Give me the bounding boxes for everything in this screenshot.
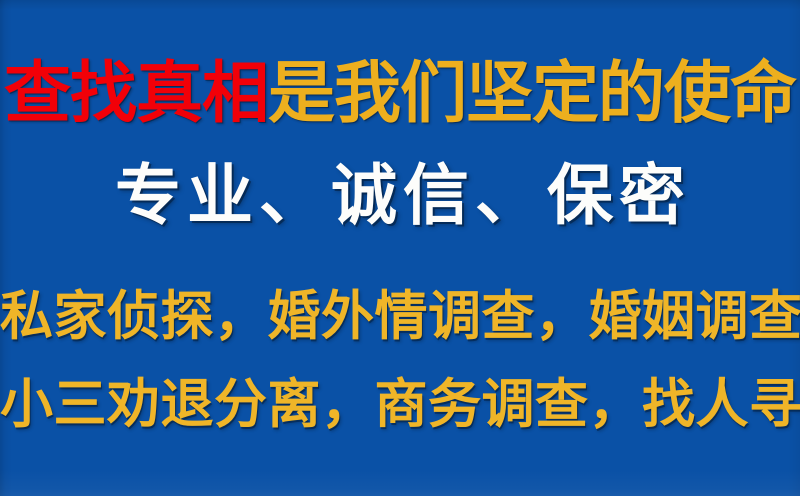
advertisement-banner: 查找真相是我们坚定的使命 专业、诚信、保密 私家侦探，婚外情调查，婚姻调查， 小…	[0, 0, 800, 496]
subhead-slogan: 专业、诚信、保密	[0, 163, 800, 235]
services-line-2: 小三劝退分离，商务调查，找人寻人	[0, 378, 800, 438]
headline-highlight-text: 查找真相	[4, 60, 268, 127]
headline-rest-text: 是我们坚定的使命	[268, 60, 796, 127]
services-line-1: 私家侦探，婚外情调查，婚姻调查，	[0, 290, 800, 350]
headline: 查找真相是我们坚定的使命	[0, 60, 800, 132]
